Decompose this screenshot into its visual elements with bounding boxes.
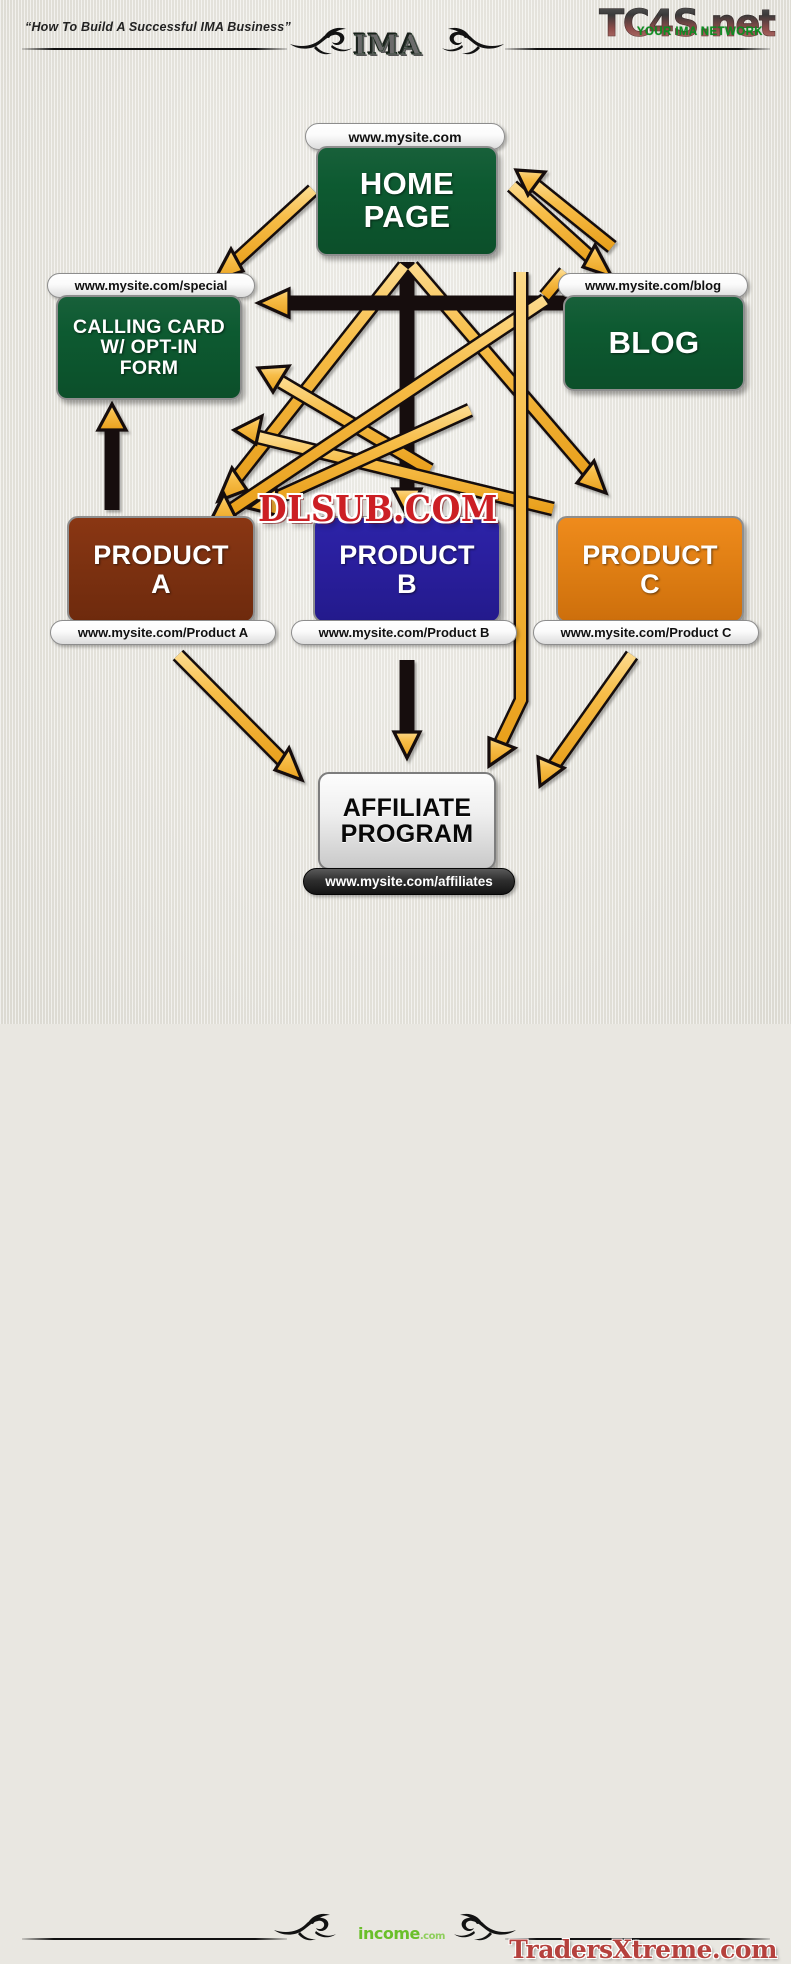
dlsub-watermark: DLSUB.COM [258,487,498,529]
url-pill-product-a[interactable]: www.mysite.com/Product A [50,620,276,645]
arrow-product-a-to-affiliate [178,655,302,780]
page-footer: income.com TradersXtreme.com [0,950,791,1024]
arrow-product-c-to-affiliate [538,655,632,786]
tradersxtreme-logo[interactable]: TradersXtreme.com [509,1935,777,1964]
node-box-blog[interactable]: BLOG [563,295,745,391]
node-box-affiliate-program[interactable]: AFFILIATE PROGRAM [318,772,496,870]
flourish-ornament-icon [452,1912,518,1942]
url-pill-product-c[interactable]: www.mysite.com/Product C [533,620,759,645]
income-logo-name: income [358,1924,420,1943]
site-logo[interactable]: TC4S.net YOUR IMA NETWORK [581,2,781,54]
arrow-home-to-product-b [393,262,421,516]
arrow-product-b-to-calling-card [258,366,430,470]
header-rule-left [22,48,287,50]
page-canvas: “How To Build A Successful IMA Business”… [0,0,791,1024]
income-logo-suffix: .com [420,1931,445,1942]
arrow-home-to-blog [512,186,612,277]
footer-rule-left [22,1938,287,1940]
node-box-product-c[interactable]: PRODUCT C [556,516,744,623]
url-pill-product-b[interactable]: www.mysite.com/Product B [291,620,517,645]
arrow-product-b-to-affiliate [394,660,420,758]
income-logo[interactable]: income.com [358,1924,445,1943]
node-label-product-b: PRODUCT B [339,541,475,598]
page-header: “How To Build A Successful IMA Business”… [0,0,791,70]
arrow-home-to-calling-card [214,190,313,281]
node-label-blog: BLOG [609,327,700,360]
site-logo-text: TC4S.net [599,2,775,45]
arrow-blog-to-home [516,170,612,247]
flourish-ornament-icon [272,1912,338,1942]
url-pill-affiliate-program[interactable]: www.mysite.com/affiliates [303,868,515,895]
node-label-product-c: PRODUCT C [582,541,718,598]
flourish-ornament-icon [440,26,506,56]
flourish-ornament-icon [288,26,354,56]
node-label-product-a: PRODUCT A [93,541,229,598]
node-box-product-a[interactable]: PRODUCT A [67,516,255,623]
node-label-affiliate-program: AFFILIATE PROGRAM [341,795,474,848]
arrow-product-a-to-calling-card [98,404,126,510]
node-label-home-page: HOME PAGE [360,168,454,234]
node-box-home-page[interactable]: HOME PAGE [316,146,498,256]
node-box-calling-card[interactable]: CALLING CARD W/ OPT-IN FORM [56,295,242,400]
header-ima-title: IMA [353,28,422,61]
node-box-product-b[interactable]: PRODUCT B [313,516,501,623]
arrow-blog-to-calling-card [258,289,572,317]
header-tagline: “How To Build A Successful IMA Business” [25,20,291,34]
site-logo-tagline: YOUR IMA NETWORK [637,26,763,38]
node-label-calling-card: CALLING CARD W/ OPT-IN FORM [73,317,225,379]
arrow-home-to-product-a [218,266,404,501]
